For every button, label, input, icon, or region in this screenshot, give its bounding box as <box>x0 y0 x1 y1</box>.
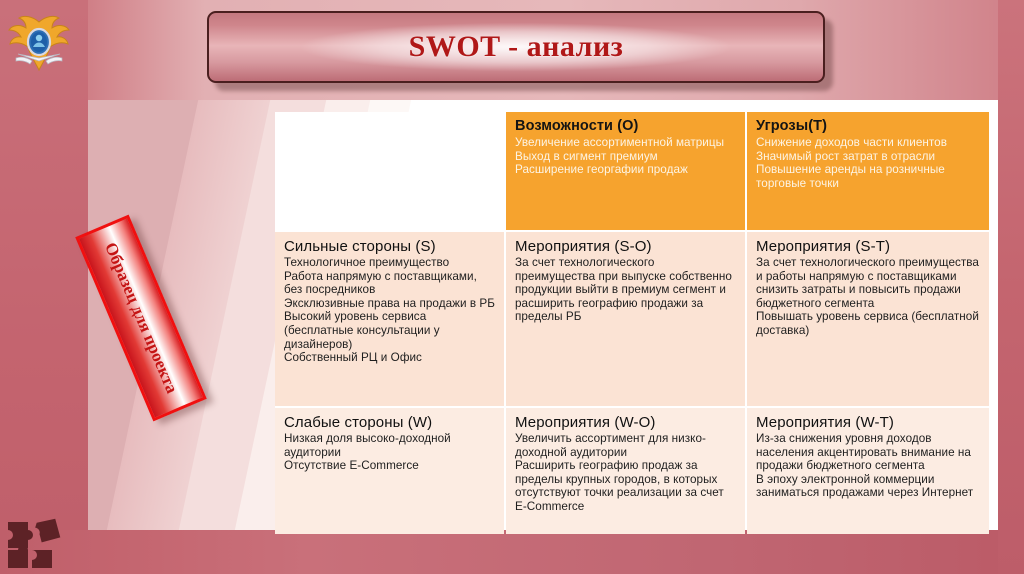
table-header-opportunities: Возможности (O) Увеличение ассортиментно… <box>506 112 745 230</box>
cell-body: За счет технологического преимущества и … <box>756 256 981 338</box>
cell-body: Снижение доходов части клиентов Значимый… <box>756 136 981 190</box>
cell-title: Мероприятия (S-O) <box>515 238 737 255</box>
cell-title: Угрозы(T) <box>756 118 981 135</box>
background-right-band <box>998 0 1024 574</box>
background-left-band <box>0 0 88 574</box>
table-cell-strategy-wo: Мероприятия (W-O) Увеличить ассортимент … <box>506 408 745 534</box>
cell-body: Технологичное преимущество Работа напрям… <box>284 256 496 365</box>
cell-body: Из-за снижения уровня доходов населения … <box>756 432 981 500</box>
table-cell-strategy-st: Мероприятия (S-T) За счет технологическо… <box>747 232 989 406</box>
double-headed-eagle-emblem-icon <box>6 14 72 76</box>
cell-body: За счет технологического преимущества пр… <box>515 256 737 324</box>
cell-title: Мероприятия (W-O) <box>515 414 737 431</box>
title-banner: SWOT - анализ <box>207 11 825 83</box>
table-cell-strategy-so: Мероприятия (S-O) За счет технологическо… <box>506 232 745 406</box>
background-bottom-band <box>0 530 1024 574</box>
table-cell-corner-blank <box>275 112 504 230</box>
table-cell-strategy-wt: Мероприятия (W-T) Из-за снижения уровня … <box>747 408 989 534</box>
cell-title: Мероприятия (W-T) <box>756 414 981 431</box>
puzzle-pieces-icon <box>6 516 64 570</box>
cell-title: Возможности (O) <box>515 118 737 135</box>
table-cell-weaknesses: Слабые стороны (W) Низкая доля высоко-до… <box>275 408 504 534</box>
table-cell-strengths: Сильные стороны (S) Технологичное преиму… <box>275 232 504 406</box>
swot-matrix-table: Возможности (O) Увеличение ассортиментно… <box>275 112 985 530</box>
slide-swot-analysis: SWOT - анализ Образец для проекта Возмож… <box>0 0 1024 574</box>
cell-title: Мероприятия (S-T) <box>756 238 981 255</box>
cell-body: Увеличение ассортиментной матрицы Выход … <box>515 136 737 177</box>
cell-title: Слабые стороны (W) <box>284 414 496 431</box>
page-title: SWOT - анализ <box>409 30 624 64</box>
table-header-threats: Угрозы(T) Снижение доходов части клиенто… <box>747 112 989 230</box>
cell-title: Сильные стороны (S) <box>284 238 496 255</box>
cell-body: Увеличить ассортимент для низко-доходной… <box>515 432 737 514</box>
cell-body: Низкая доля высоко-доходной аудитории От… <box>284 432 496 473</box>
